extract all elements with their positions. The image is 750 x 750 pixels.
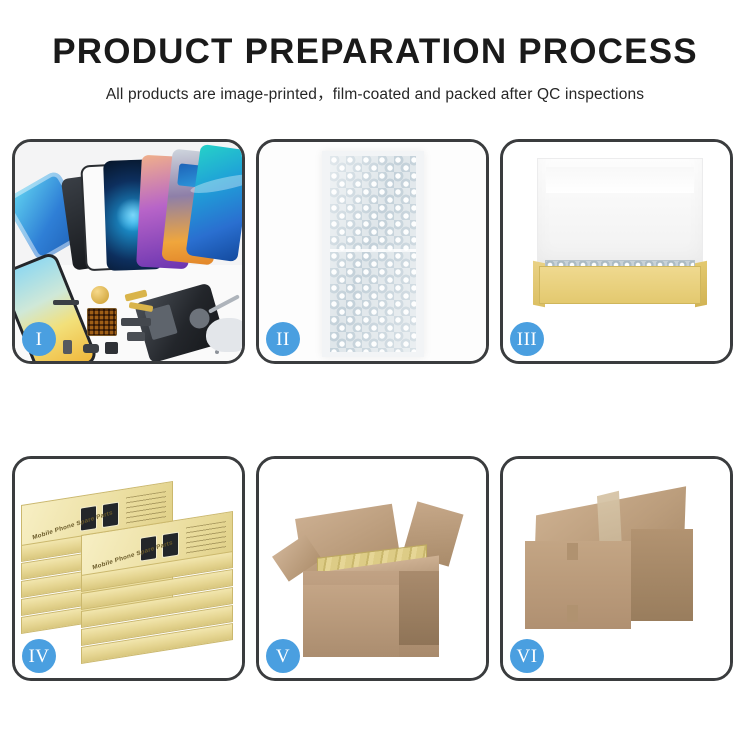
flex-cable-icon	[121, 318, 151, 326]
step-panel-2: II	[256, 139, 489, 364]
page-subtitle: All products are image-printed，film-coat…	[0, 82, 750, 104]
step-badge-1: I	[22, 322, 56, 356]
spare-part-icon	[127, 332, 145, 341]
header: PRODUCT PREPARATION PROCESS All products…	[0, 0, 750, 104]
speaker-part-icon	[91, 286, 109, 304]
chip-grid-icon	[87, 308, 117, 336]
step-badge-6: VI	[510, 639, 544, 673]
bubble-wrap-icon	[330, 156, 416, 352]
carton-front-face	[525, 541, 631, 629]
step-badge-5: V	[266, 639, 300, 673]
step-badge-4: IV	[22, 639, 56, 673]
taptic-engine-icon	[105, 342, 118, 354]
carton-side-face	[631, 529, 693, 621]
page-title: PRODUCT PREPARATION PROCESS	[0, 34, 750, 71]
wrap-seam	[330, 249, 416, 252]
step-panel-6: VI	[500, 456, 733, 681]
carton-seam	[567, 605, 578, 622]
carton-side-face	[399, 571, 439, 645]
step-badge-2: II	[266, 322, 300, 356]
hand-icon	[206, 318, 242, 352]
bubble-wrap-package	[322, 151, 424, 357]
carton-front-face	[303, 585, 399, 657]
step-panel-1: I	[12, 139, 245, 364]
spare-part-icon	[83, 344, 99, 353]
box-text-lines	[186, 521, 226, 555]
box-text-lines	[126, 491, 166, 525]
step-panel-4: Mobile Phone Spare Parts Mobile Phone Sp…	[12, 456, 245, 681]
button-part-icon	[63, 340, 72, 354]
spare-part-icon	[53, 300, 79, 305]
process-steps-grid: I II III	[12, 139, 739, 681]
step-panel-5: V	[256, 456, 489, 681]
box-lid-icon	[537, 158, 703, 274]
product-preparation-infographic: PRODUCT PREPARATION PROCESS All products…	[0, 0, 750, 750]
carton-seam	[567, 543, 578, 560]
step-panel-3: III	[500, 139, 733, 364]
inner-box-icon	[539, 266, 701, 304]
step-badge-3: III	[510, 322, 544, 356]
